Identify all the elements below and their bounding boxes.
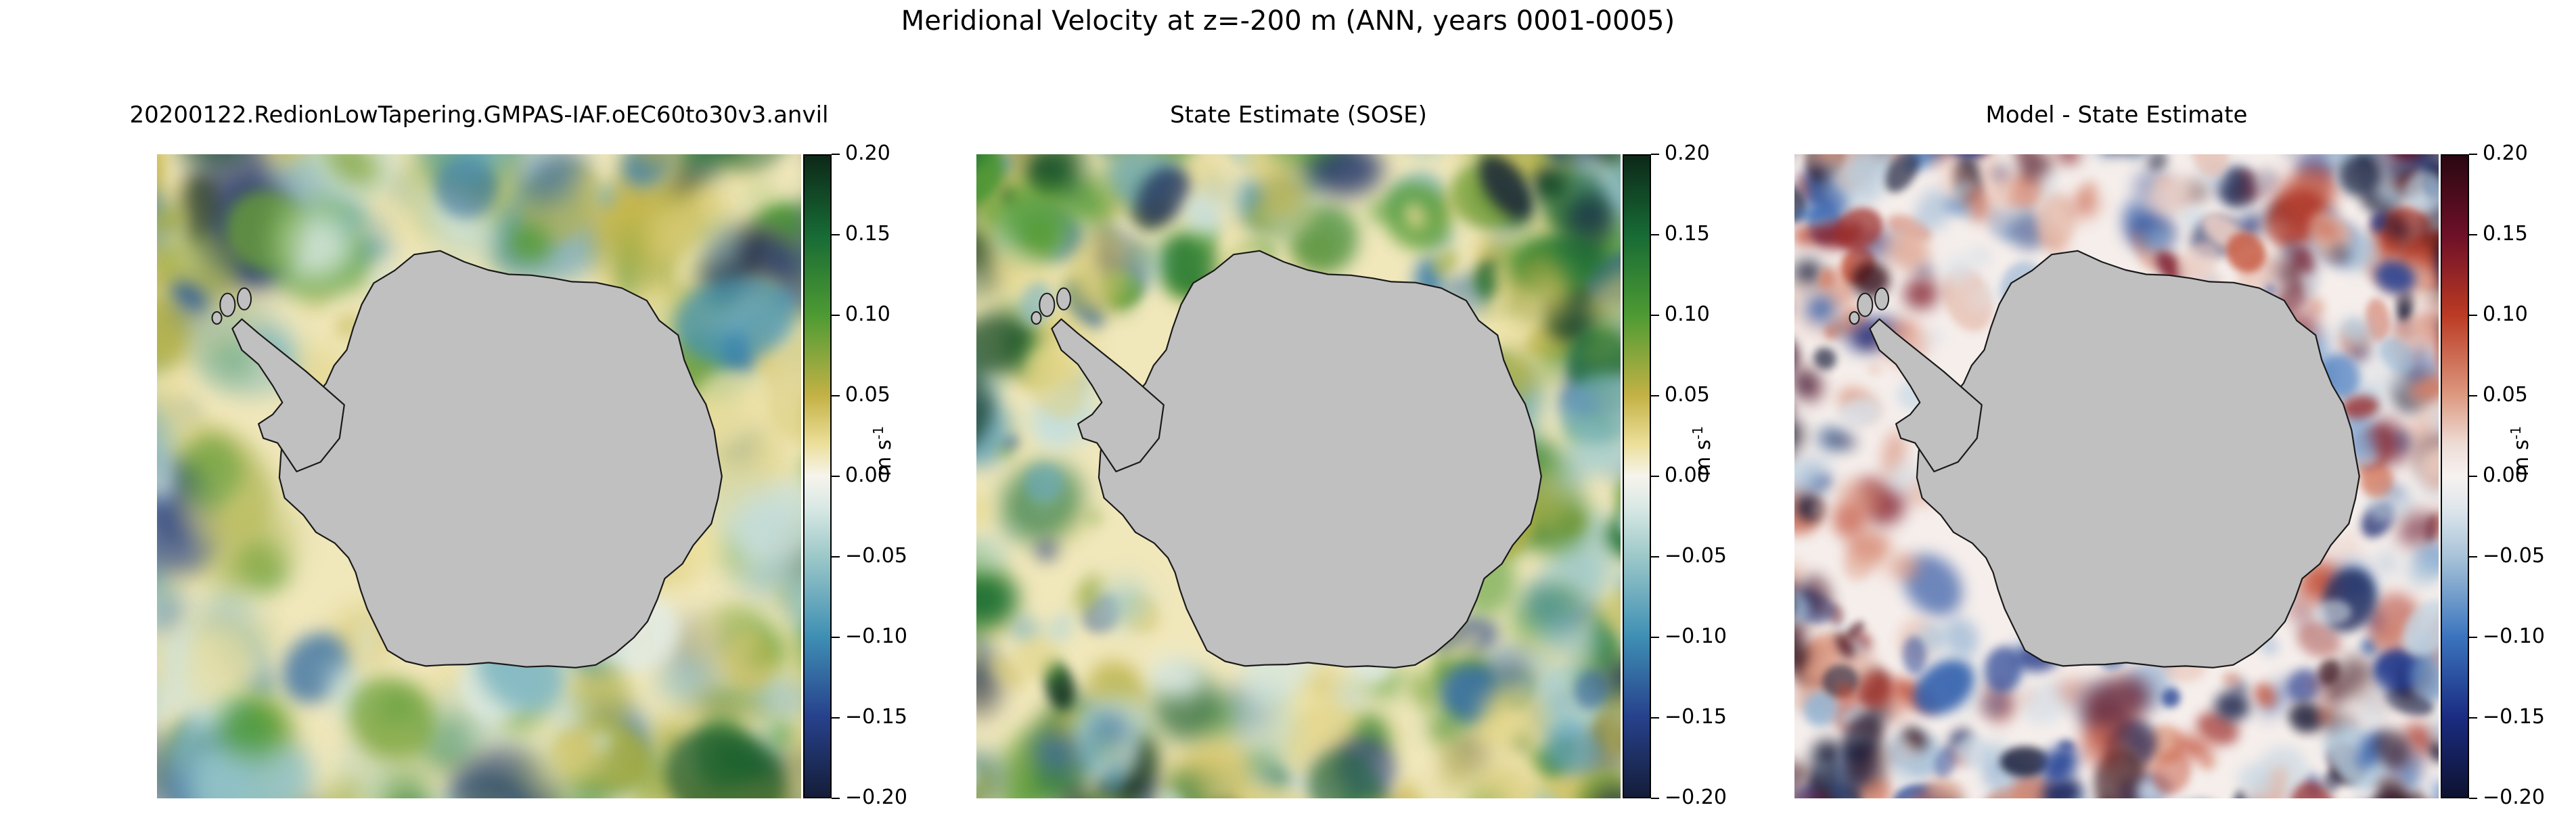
island-shape [1850,312,1859,324]
tick-label: −0.10 [845,624,907,648]
tick-mark [832,798,840,799]
colorbar-ticks-model: 0.200.150.100.050.00−0.05−0.10−0.15−0.20 [832,154,940,798]
tick-mark [2469,556,2477,557]
panel-sose: State Estimate (SOSE) [976,154,1621,798]
tick-label: 0.15 [845,222,890,246]
tick-label: 0.10 [845,302,890,326]
continent-shape [1917,251,2359,668]
antarctica-outline [157,154,801,798]
tick-label: 0.05 [1665,383,1710,407]
tick-label: −0.10 [2483,624,2545,648]
tick-mark [2469,154,2477,155]
tick-mark [1651,717,1659,719]
panel-difference: Model - State Estimate [1794,154,2439,798]
island-shape [220,294,235,317]
panel-model: 20200122.RedionLowTapering.GMPAS-IAF.oEC… [157,154,801,798]
colorbar-gradient-sose [1623,154,1651,798]
colorbar-model: 0.200.150.100.050.00−0.05−0.10−0.15−0.20… [803,154,939,798]
tick-mark [832,315,840,316]
tick-mark [2469,637,2477,638]
island-shape [1875,288,1889,310]
tick-label: 0.05 [2483,383,2528,407]
antarctic-peninsula [1052,319,1163,472]
tick-mark [2469,717,2477,719]
tick-mark [1651,556,1659,557]
tick-mark [832,476,840,477]
colorbar-difference: 0.200.150.100.050.00−0.05−0.10−0.15−0.20… [2441,154,2576,798]
antarctica-landmass [976,154,1621,798]
tick-mark [1651,476,1659,477]
map-model[interactable] [157,154,801,798]
continent-shape [279,251,722,668]
tick-label: −0.05 [1665,544,1727,568]
tick-mark [1651,798,1659,799]
tick-label: 0.20 [2483,141,2528,165]
map-difference[interactable] [1794,154,2439,798]
tick-label: −0.20 [1665,785,1727,809]
antarctica-landmass [1794,154,2439,798]
colorbar-ticks-difference: 0.200.150.100.050.00−0.05−0.10−0.15−0.20 [2469,154,2576,798]
tick-label: −0.15 [845,705,907,729]
figure-title: Meridional Velocity at z=-200 m (ANN, ye… [0,5,2576,37]
island-shape [1032,312,1041,324]
colorbar-gradient-model [803,154,832,798]
antarctica-landmass [157,154,801,798]
figure-canvas: Meridional Velocity at z=-200 m (ANN, ye… [0,0,2576,820]
island-shape [1857,294,1872,317]
colorbar-ticks-sose: 0.200.150.100.050.00−0.05−0.10−0.15−0.20 [1651,154,1759,798]
tick-mark [2469,476,2477,477]
island-shape [212,312,222,324]
panel-title-difference: Model - State Estimate [1713,101,2520,129]
tick-mark [2469,234,2477,235]
antarctica-outline [976,154,1621,798]
colorbar-unit-sose: m s-1 [1690,426,1715,476]
tick-mark [832,395,840,396]
colorbar-sose: 0.200.150.100.050.00−0.05−0.10−0.15−0.20… [1623,154,1758,798]
colorbar-gradient-difference [2441,154,2469,798]
tick-mark [2469,315,2477,316]
tick-label: −0.05 [2483,544,2545,568]
tick-mark [1651,395,1659,396]
antarctic-peninsula [1870,319,1981,472]
tick-mark [832,154,840,155]
tick-mark [1651,154,1659,155]
tick-mark [832,234,840,235]
tick-label: 0.05 [845,383,890,407]
tick-label: 0.20 [845,141,890,165]
tick-label: 0.10 [1665,302,1710,326]
tick-mark [832,637,840,638]
tick-mark [2469,798,2477,799]
colorbar-unit-model: m s-1 [870,426,896,476]
tick-mark [2469,395,2477,396]
tick-label: −0.20 [845,785,907,809]
tick-mark [1651,637,1659,638]
tick-label: −0.05 [845,544,907,568]
colorbar-unit-difference: m s-1 [2508,426,2533,476]
tick-label: 0.15 [1665,222,1710,246]
tick-label: 0.10 [2483,302,2528,326]
tick-label: −0.15 [1665,705,1727,729]
island-shape [238,288,251,310]
tick-mark [832,717,840,719]
tick-label: 0.20 [1665,141,1710,165]
island-shape [1057,288,1070,310]
antarctic-peninsula [232,319,344,472]
tick-label: −0.15 [2483,705,2545,729]
panel-title-model: 20200122.RedionLowTapering.GMPAS-IAF.oEC… [76,101,882,129]
tick-mark [832,556,840,557]
island-shape [1039,294,1054,317]
tick-label: 0.15 [2483,222,2528,246]
tick-label: −0.10 [1665,624,1727,648]
tick-label: −0.20 [2483,785,2545,809]
map-sose[interactable] [976,154,1621,798]
tick-mark [1651,315,1659,316]
antarctica-outline [1794,154,2439,798]
continent-shape [1099,251,1541,668]
tick-mark [1651,234,1659,235]
panel-title-sose: State Estimate (SOSE) [895,101,1702,129]
